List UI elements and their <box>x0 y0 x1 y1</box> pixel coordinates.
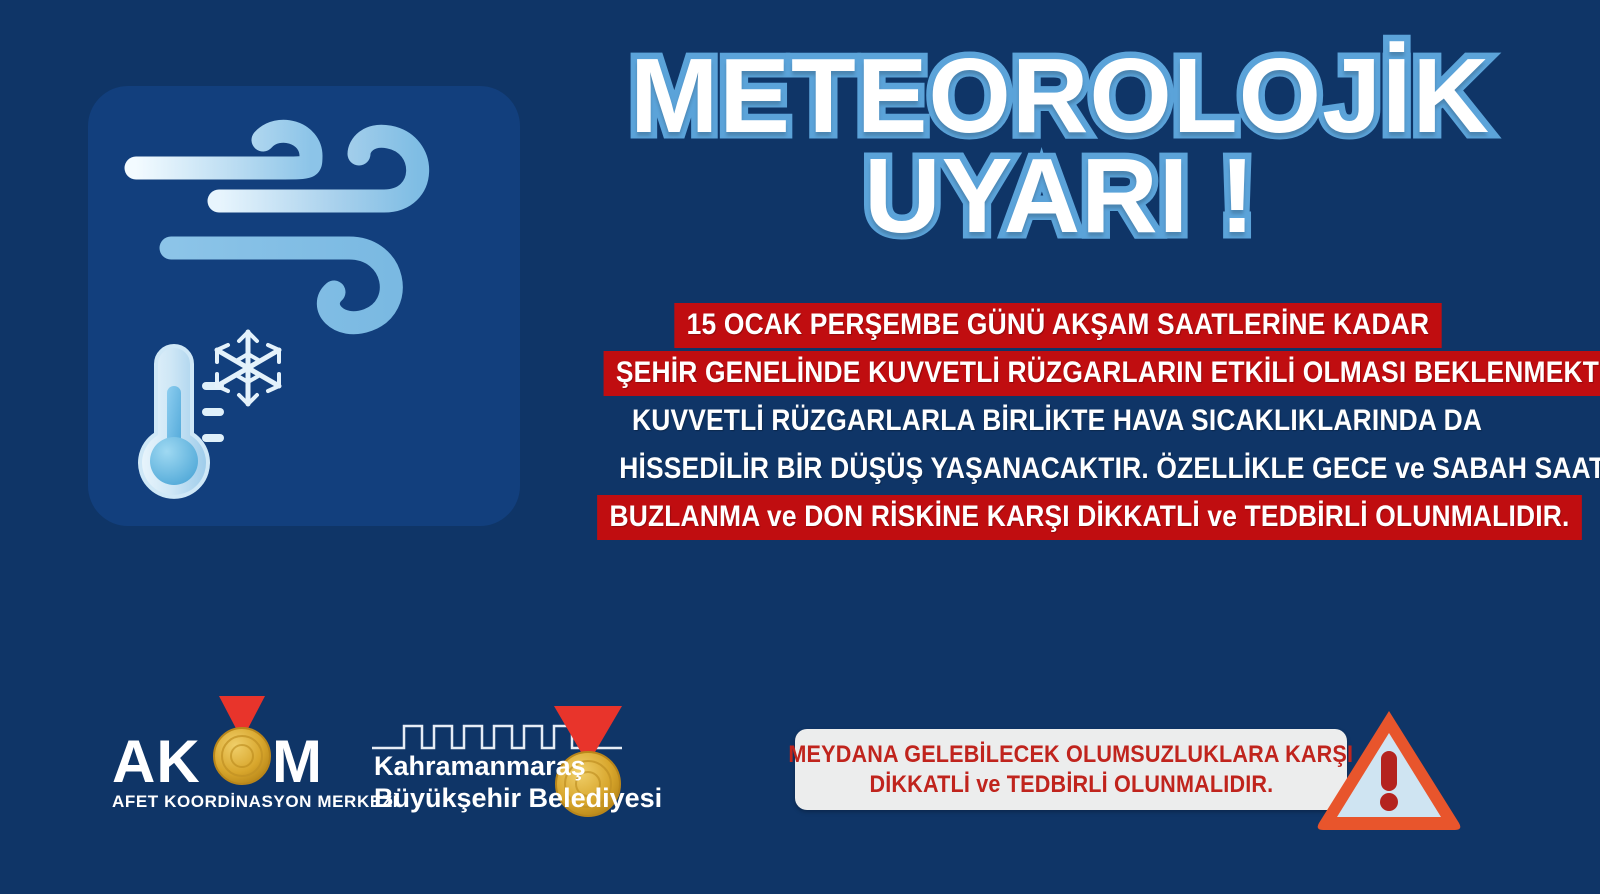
bottom-warning-line-1: MEYDANA GELEBİLECEK OLUMSUZLUKLARA KARŞI <box>789 740 1354 770</box>
medal-marker-icon <box>207 694 277 794</box>
title-line-2: UYARI ! <box>560 148 1560 246</box>
warning-triangle-icon <box>1315 707 1463 832</box>
message-text: 15 OCAK PERŞEMBE GÜNÜ AKŞAM SAATLERİNE K… <box>674 303 1441 348</box>
municipality-logo[interactable]: Kahramanmaraş Büyükşehir Belediyesi <box>372 700 642 820</box>
message-line: HİSSEDİLİR BİR DÜŞÜŞ YAŞANACAKTIR. ÖZELL… <box>530 447 1585 492</box>
svg-text:M: M <box>272 730 323 792</box>
svg-text:AK: AK <box>112 730 201 792</box>
message-line: 15 OCAK PERŞEMBE GÜNÜ AKŞAM SAATLERİNE K… <box>530 303 1585 348</box>
akom-subtitle: AFET KOORDİNASYON MERKEZİ <box>112 792 352 812</box>
message-line: KUVVETLİ RÜZGARLARLA BİRLİKTE HAVA SICAK… <box>530 399 1585 444</box>
snowflake-icon <box>217 332 279 404</box>
poster-title: METEOROLOJİK UYARI ! <box>560 48 1560 245</box>
message-text: ŞEHİR GENELİNDE KUVVETLİ RÜZGARLARIN ETK… <box>604 351 1600 396</box>
akom-logo[interactable]: AK M AFET KOORDİNASYON MERKEZİ <box>112 700 352 815</box>
meteorological-warning-poster: METEOROLOJİK UYARI ! 15 OCAK PERŞEMBE GÜ… <box>0 0 1600 894</box>
bottom-warning-box: MEYDANA GELEBİLECEK OLUMSUZLUKLARA KARŞI… <box>795 729 1347 810</box>
municipality-name-line2: Büyükşehir Belediyesi <box>374 782 604 814</box>
message-text: BUZLANMA ve DON RİSKİNE KARŞI DİKKATLİ v… <box>597 495 1582 540</box>
title-line-1: METEOROLOJİK <box>560 48 1560 146</box>
warning-message-block: 15 OCAK PERŞEMBE GÜNÜ AKŞAM SAATLERİNE K… <box>530 303 1585 543</box>
weather-icon-panel <box>88 86 520 526</box>
message-line: ŞEHİR GENELİNDE KUVVETLİ RÜZGARLARIN ETK… <box>530 351 1585 396</box>
bottom-warning-line-2: DİKKATLİ ve TEDBİRLİ OLUNMALIDIR. <box>869 770 1273 800</box>
message-text: HİSSEDİLİR BİR DÜŞÜŞ YAŞANACAKTIR. ÖZELL… <box>607 447 1600 492</box>
message-text: KUVVETLİ RÜZGARLARLA BİRLİKTE HAVA SICAK… <box>620 399 1495 444</box>
municipality-name-line1: Kahramanmaraş <box>374 750 604 782</box>
message-line: BUZLANMA ve DON RİSKİNE KARŞI DİKKATLİ v… <box>530 495 1585 540</box>
thermometer-icon <box>118 316 318 516</box>
